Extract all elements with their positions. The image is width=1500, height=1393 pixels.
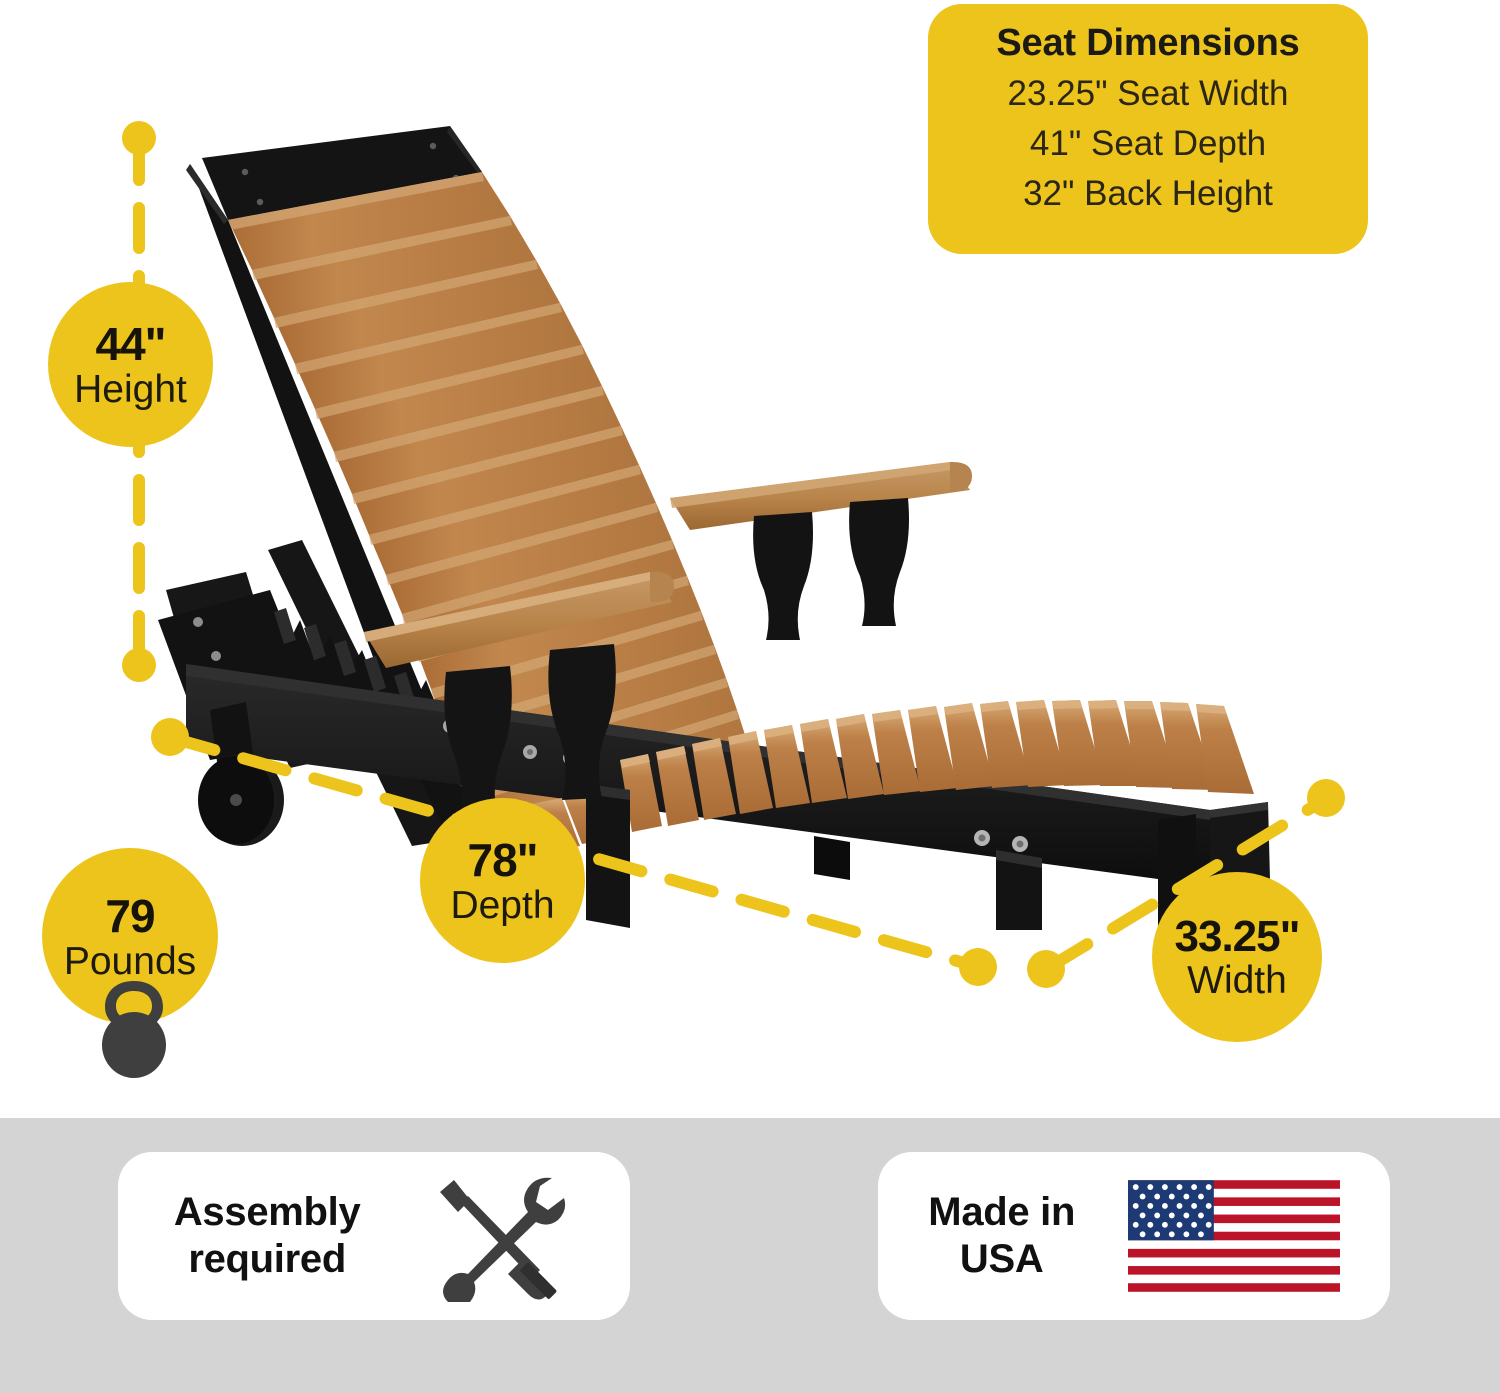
- assembly-required-card: Assembly required: [118, 1152, 630, 1320]
- us-flag-icon: [1128, 1166, 1340, 1306]
- height-badge: 44" Height: [48, 282, 213, 447]
- product-canvas: Seat Dimensions 23.25" Seat Width 41" Se…: [0, 0, 1500, 1118]
- tools-icon: [424, 1170, 574, 1302]
- width-label: Width: [1187, 959, 1287, 1003]
- depth-value: 78": [468, 833, 538, 887]
- weight-value: 79: [105, 889, 154, 943]
- depth-label: Depth: [450, 884, 554, 928]
- width-value: 33.25": [1175, 912, 1300, 962]
- height-label: Height: [74, 368, 187, 412]
- infographic-root: Seat Dimensions 23.25" Seat Width 41" Se…: [0, 0, 1500, 1393]
- kettlebell-icon: [86, 975, 182, 1080]
- width-badge: 33.25" Width: [1152, 872, 1322, 1042]
- made-in-usa-card: Made in USA: [878, 1152, 1390, 1320]
- footer-band: Assembly required Made in USA: [0, 1118, 1500, 1393]
- height-value: 44": [96, 317, 166, 371]
- made-in-usa-label: Made in USA: [928, 1189, 1075, 1283]
- depth-badge: 78" Depth: [420, 798, 585, 963]
- assembly-required-label: Assembly required: [174, 1189, 361, 1283]
